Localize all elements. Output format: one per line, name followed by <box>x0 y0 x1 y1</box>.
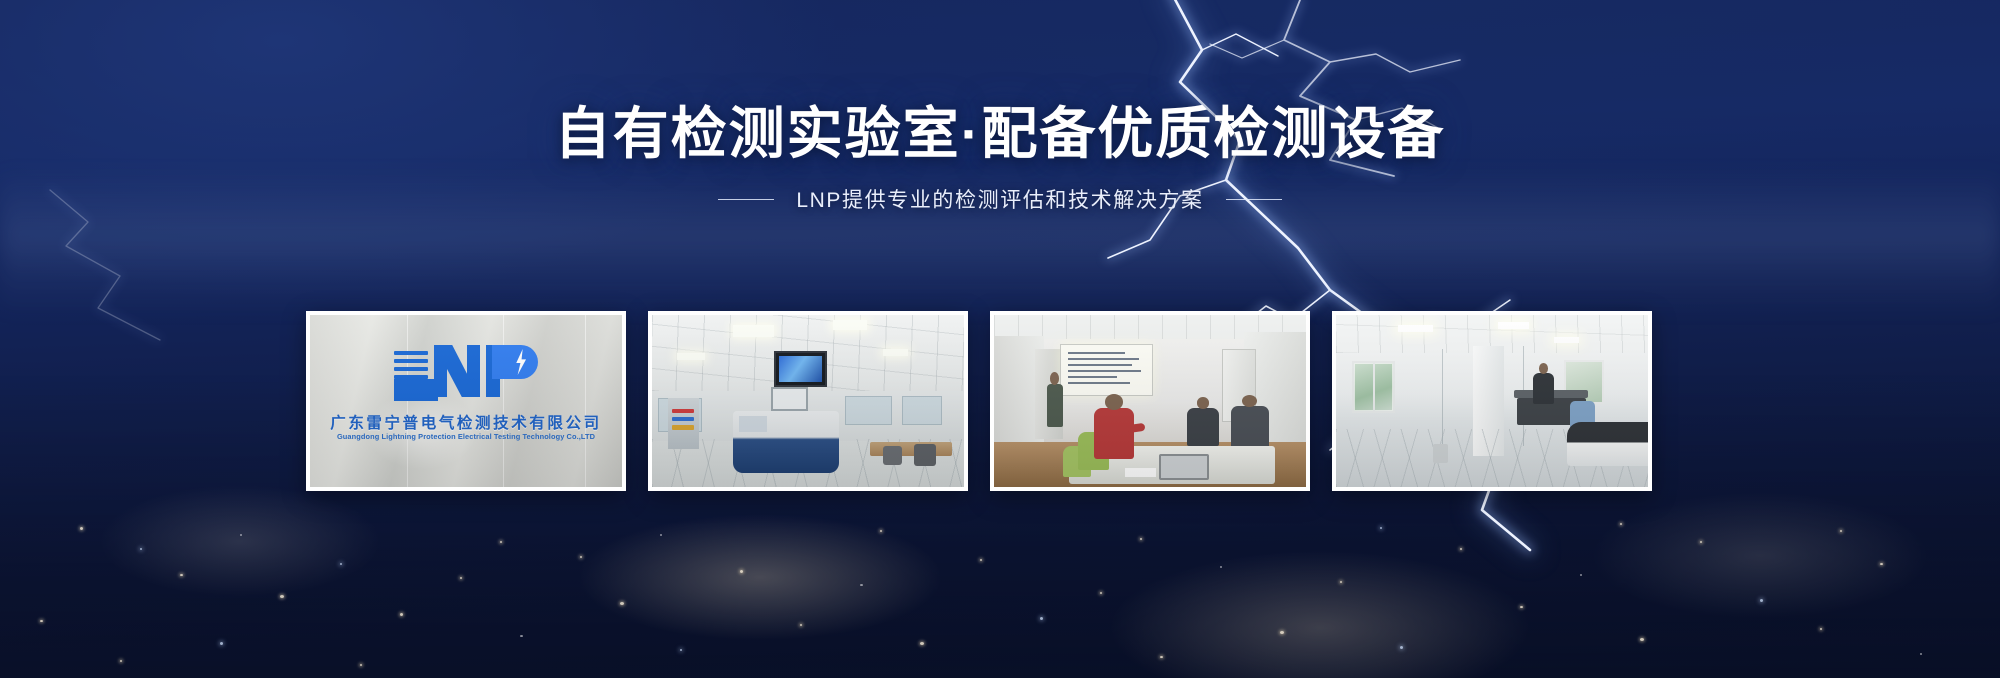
page-subtitle: LNP提供专业的检测评估和技术解决方案 <box>796 184 1203 214</box>
meeting-presentation-photo <box>994 315 1306 487</box>
office-interior-photo <box>1336 315 1648 487</box>
company-signboard-photo: 广东雷宁普电气检测技术有限公司 Guangdong Lightning Prot… <box>310 315 622 487</box>
subtitle-row: LNP提供专业的检测评估和技术解决方案 <box>0 184 2000 214</box>
photo-card[interactable]: 广东雷宁普电气检测技术有限公司 Guangdong Lightning Prot… <box>306 311 626 491</box>
photo-card[interactable] <box>1332 311 1652 491</box>
photo-card[interactable] <box>990 311 1310 491</box>
photo-card-list: 广东雷宁普电气检测技术有限公司 Guangdong Lightning Prot… <box>306 311 1648 491</box>
rule-right-icon <box>1226 199 1282 200</box>
hero-banner: 自有检测实验室·配备优质检测设备 LNP提供专业的检测评估和技术解决方案 广东雷… <box>0 0 2000 678</box>
page-title: 自有检测实验室·配备优质检测设备 <box>0 104 2000 164</box>
headline-block: 自有检测实验室·配备优质检测设备 LNP提供专业的检测评估和技术解决方案 <box>0 104 2000 214</box>
rule-left-icon <box>718 199 774 200</box>
testing-laboratory-photo <box>652 315 964 487</box>
photo-card[interactable] <box>648 311 968 491</box>
